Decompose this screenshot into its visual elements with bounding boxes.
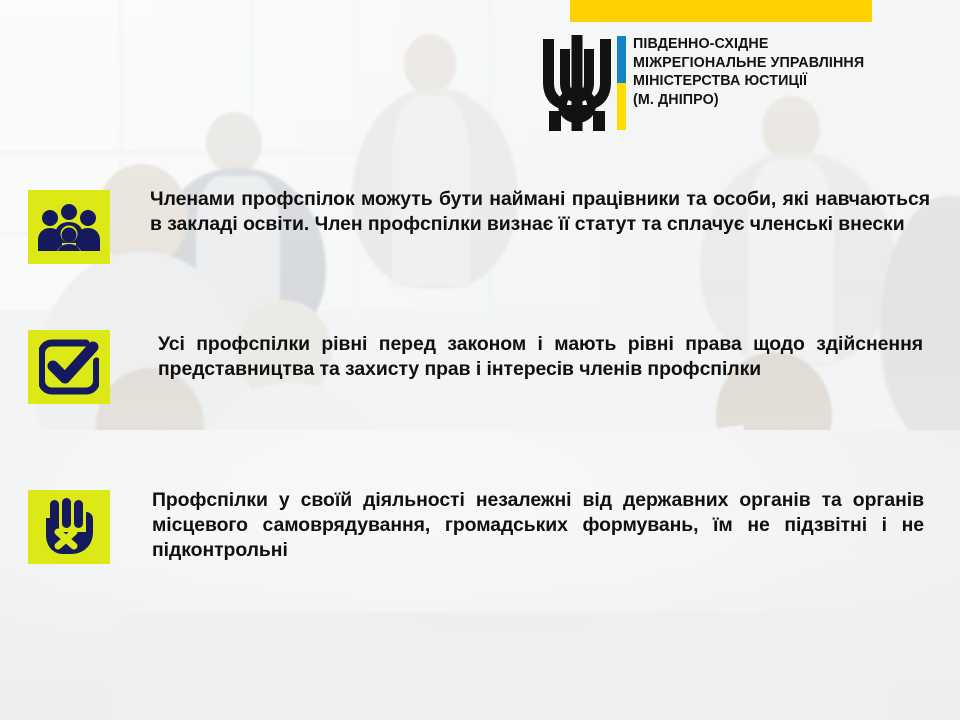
icon-box-2 [28, 330, 110, 404]
bullet-point-2: Усі профспілки рівні перед законом і маю… [28, 330, 923, 404]
bullet-point-1: Членами профспілок можуть бути наймані п… [28, 190, 930, 264]
logo-line-3: МІНІСТЕРСТВА ЮСТИЦІЇ [633, 72, 864, 91]
checkbox-check-icon [39, 339, 99, 395]
logo-line-2: МІЖРЕГІОНАЛЬНЕ УПРАВЛІННЯ [633, 54, 864, 73]
icon-box-3 [28, 490, 110, 564]
organization-logo: ПІВДЕННО-СХІДНЕ МІЖРЕГІОНАЛЬНЕ УПРАВЛІНН… [540, 33, 864, 133]
bullet-text-1: Членами профспілок можуть бути наймані п… [150, 187, 930, 237]
logo-line-4: (М. ДНІПРО) [633, 91, 864, 110]
bullet-text-3: Профспілки у своїй діяльності незалежні … [152, 488, 924, 564]
icon-box-1 [28, 190, 110, 264]
stop-hand-x-icon [41, 498, 97, 556]
people-group-icon [38, 203, 100, 251]
blue-yellow-bar [617, 36, 626, 130]
presentation-slide: ПІВДЕННО-СХІДНЕ МІЖРЕГІОНАЛЬНЕ УПРАВЛІНН… [0, 0, 960, 720]
accent-banner [570, 0, 872, 22]
logo-line-1: ПІВДЕННО-СХІДНЕ [633, 35, 864, 54]
bullet-text-2: Усі профспілки рівні перед законом і маю… [158, 332, 923, 382]
logo-text: ПІВДЕННО-СХІДНЕ МІЖРЕГІОНАЛЬНЕ УПРАВЛІНН… [633, 33, 864, 109]
bullet-point-3: Профспілки у своїй діяльності незалежні … [28, 490, 924, 564]
ukrainian-trident-icon [540, 33, 614, 133]
